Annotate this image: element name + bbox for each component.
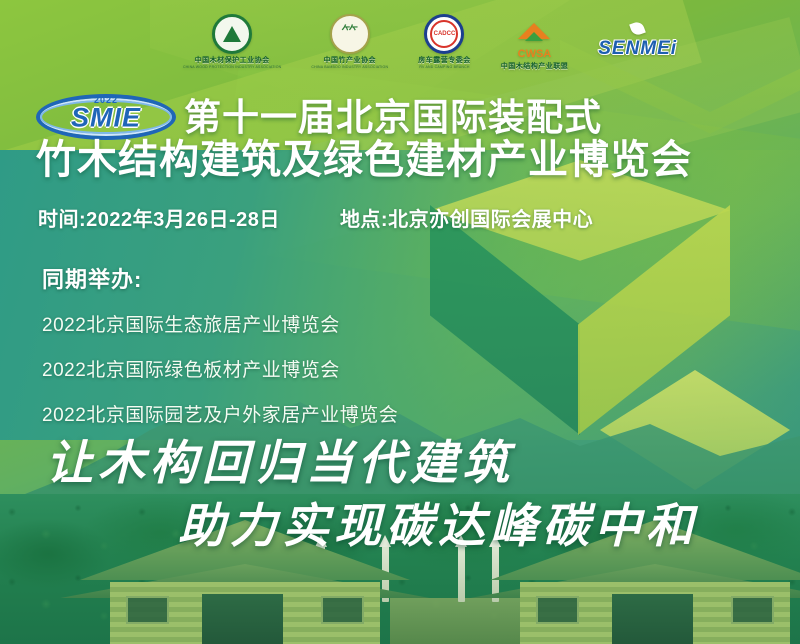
cabin-door bbox=[612, 594, 693, 644]
logo-bamboo-association: ⺮ 中国竹产业协会 CHINA BAMBOO INDUSTRY ASSOCIAT… bbox=[311, 14, 388, 69]
logo-caption-en: CHINA BAMBOO INDUSTRY ASSOCIATION bbox=[311, 65, 388, 69]
logo-caption: 中国木材保护工业协会 bbox=[195, 55, 270, 65]
house-shape bbox=[518, 23, 550, 39]
cabin-wall bbox=[520, 582, 791, 644]
logo-china-wood-protection: 中国木材保护工业协会 CHINA WOOD PROTECTION INDUSTR… bbox=[183, 14, 281, 69]
cabin-door bbox=[202, 594, 283, 644]
cabin-wall bbox=[110, 582, 381, 644]
event-date: 时间:2022年3月26日-28日 bbox=[38, 203, 280, 232]
list-item: 2022北京国际生态旅居产业博览会 bbox=[42, 310, 398, 337]
slogan-line2: 助力实现碳达峰碳中和 bbox=[178, 487, 698, 556]
concurrent-events: 同期举办: 2022北京国际生态旅居产业博览会 2022北京国际绿色板材产业博览… bbox=[42, 262, 398, 445]
cabin-window bbox=[321, 596, 364, 624]
logo-caption: 房车露营专委会 bbox=[418, 55, 471, 65]
leaf-icon bbox=[629, 20, 646, 37]
slogan-line1: 让木构回归当代建筑 bbox=[46, 424, 514, 493]
logo-senmei: SENMEi bbox=[598, 22, 677, 60]
house-roof-icon bbox=[514, 11, 554, 51]
logo-caption-en: CHINA WOOD PROTECTION INDUSTRY ASSOCIATI… bbox=[183, 65, 281, 69]
list-item: 2022北京国际绿色板材产业博览会 bbox=[42, 355, 398, 382]
cabin-window bbox=[536, 596, 579, 624]
list-item: 2022北京国际园艺及户外家居产业博览会 bbox=[42, 400, 398, 427]
concurrent-heading: 同期举办: bbox=[42, 262, 398, 294]
event-meta: 时间:2022年3月26日-28日 地点:北京亦创国际会展中心 bbox=[38, 203, 593, 232]
pine-tree-icon bbox=[212, 14, 252, 54]
headline-row: 2022 SMIE 第十一届北京国际装配式 bbox=[36, 94, 788, 140]
logo-abbr: CADCC bbox=[434, 31, 456, 37]
cabin-window bbox=[731, 596, 774, 624]
concurrent-list: 2022北京国际生态旅居产业博览会 2022北京国际绿色板材产业博览会 2022… bbox=[42, 310, 398, 427]
page-title-line2: 竹木结构建筑及绿色建材产业博览会 bbox=[36, 140, 692, 180]
pine-tree-shape bbox=[223, 26, 241, 42]
logo-caption: 中国竹产业协会 bbox=[324, 55, 377, 65]
logo-caption-en: RV AND CAMPING BRANCH bbox=[419, 65, 469, 69]
page-title-line1: 第十一届北京国际装配式 bbox=[184, 99, 602, 136]
logo-abbr: SENMEi bbox=[598, 38, 677, 60]
logo-abbr: CWSA bbox=[518, 49, 552, 60]
bamboo-icon: ⺮ bbox=[330, 14, 370, 54]
cabin-window bbox=[126, 596, 169, 624]
event-venue: 地点:北京亦创国际会展中心 bbox=[340, 203, 593, 232]
smie-abbr: SMIE bbox=[71, 102, 141, 133]
smie-badge: 2022 SMIE bbox=[36, 94, 176, 140]
exhibition-poster: 中国木材保护工业协会 CHINA WOOD PROTECTION INDUSTR… bbox=[0, 0, 800, 644]
logo-caption: 中国木结构产业联盟 bbox=[501, 61, 569, 71]
logo-china-wood-structure-alliance: CWSA 中国木结构产业联盟 bbox=[501, 11, 569, 71]
bamboo-glyph: ⺮ bbox=[341, 25, 358, 42]
sponsor-logo-strip: 中国木材保护工业协会 CHINA WOOD PROTECTION INDUSTR… bbox=[0, 0, 800, 82]
logo-rv-camping-committee: CADCC 房车露营专委会 RV AND CAMPING BRANCH bbox=[418, 14, 471, 69]
seal-circle-icon: CADCC bbox=[424, 14, 464, 54]
